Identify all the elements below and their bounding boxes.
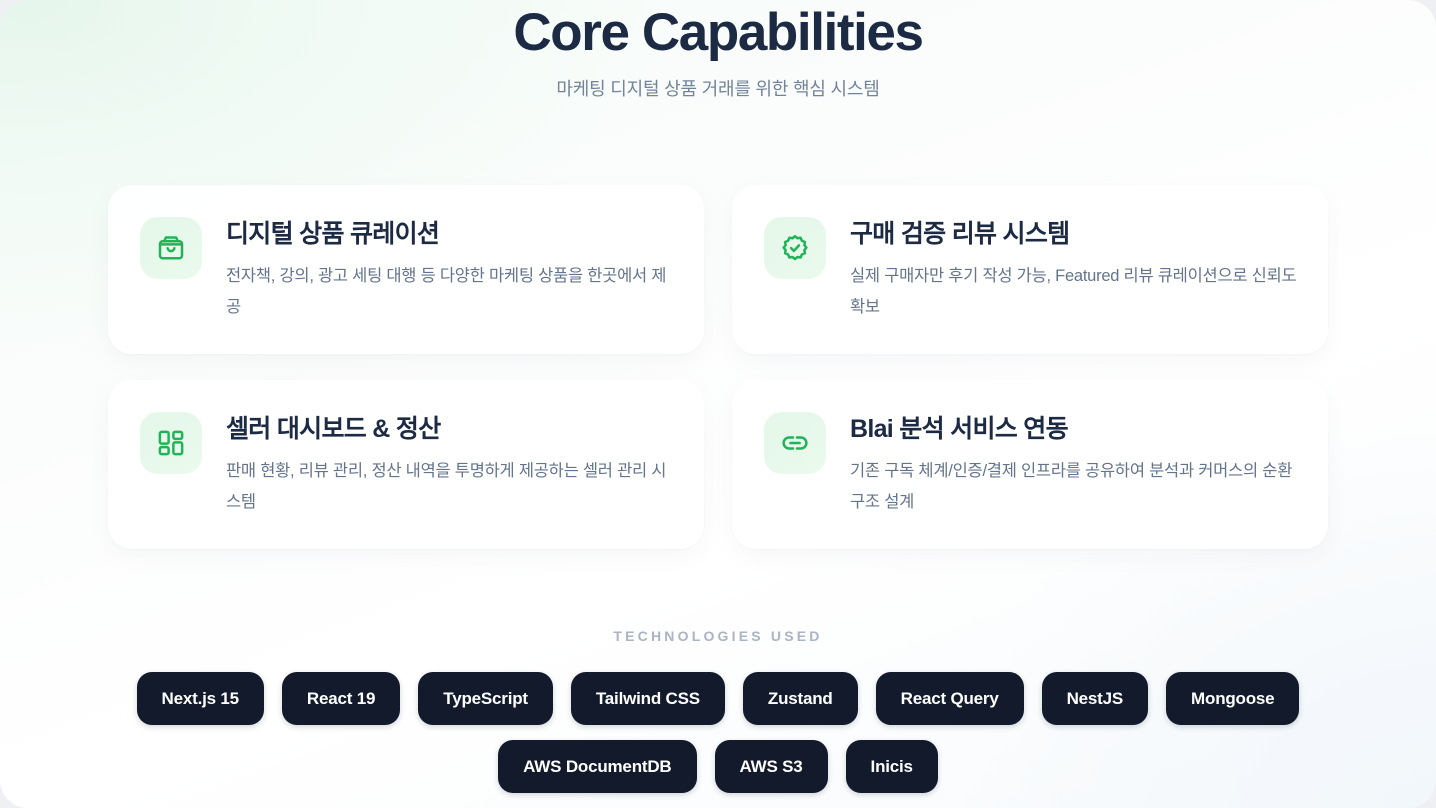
capability-card-digital-product-curation[interactable]: 디지털 상품 큐레이션 전자책, 강의, 광고 세팅 대행 등 다양한 마케팅 … bbox=[108, 185, 704, 354]
page-title: Core Capabilities bbox=[0, 2, 1436, 64]
card-body: 구매 검증 리뷰 시스템 실제 구매자만 후기 작성 가능, Featured … bbox=[850, 217, 1298, 323]
card-description: 실제 구매자만 후기 작성 가능, Featured 리뷰 큐레이션으로 신뢰도… bbox=[850, 261, 1298, 323]
capability-card-grid: 디지털 상품 큐레이션 전자책, 강의, 광고 세팅 대행 등 다양한 마케팅 … bbox=[108, 185, 1328, 549]
link-chain-icon bbox=[764, 412, 826, 474]
tech-badge[interactable]: NestJS bbox=[1042, 672, 1148, 725]
capabilities-page: Core Capabilities 마케팅 디지털 상품 거래를 위한 핵심 시… bbox=[0, 0, 1436, 808]
tech-badge[interactable]: Mongoose bbox=[1166, 672, 1299, 725]
card-body: Blai 분석 서비스 연동 기존 구독 체계/인증/결제 인프라를 공유하여 … bbox=[850, 412, 1298, 518]
tech-badge[interactable]: Zustand bbox=[743, 672, 858, 725]
capability-card-verified-review-system[interactable]: 구매 검증 리뷰 시스템 실제 구매자만 후기 작성 가능, Featured … bbox=[732, 185, 1328, 354]
dashboard-grid-icon bbox=[140, 412, 202, 474]
tech-badge[interactable]: React Query bbox=[876, 672, 1024, 725]
tech-badge[interactable]: TypeScript bbox=[418, 672, 553, 725]
verified-badge-check-icon bbox=[764, 217, 826, 279]
tech-badge[interactable]: React 19 bbox=[282, 672, 400, 725]
tech-badge[interactable]: Tailwind CSS bbox=[571, 672, 725, 725]
capability-card-blai-analytics-integration[interactable]: Blai 분석 서비스 연동 기존 구독 체계/인증/결제 인프라를 공유하여 … bbox=[732, 380, 1328, 549]
tech-badge[interactable]: AWS S3 bbox=[715, 740, 828, 793]
card-title: 셀러 대시보드 & 정산 bbox=[226, 413, 674, 445]
card-description: 판매 현황, 리뷰 관리, 정산 내역을 투명하게 제공하는 셀러 관리 시스템 bbox=[226, 456, 674, 518]
page-header: Core Capabilities 마케팅 디지털 상품 거래를 위한 핵심 시… bbox=[0, 0, 1436, 102]
page-subtitle: 마케팅 디지털 상품 거래를 위한 핵심 시스템 bbox=[0, 76, 1436, 102]
card-title: 디지털 상품 큐레이션 bbox=[226, 218, 674, 250]
tech-badge[interactable]: Next.js 15 bbox=[137, 672, 264, 725]
card-body: 셀러 대시보드 & 정산 판매 현황, 리뷰 관리, 정산 내역을 투명하게 제… bbox=[226, 412, 674, 518]
card-description: 기존 구독 체계/인증/결제 인프라를 공유하여 분석과 커머스의 순환 구조 … bbox=[850, 456, 1298, 518]
capability-card-seller-dashboard-settlement[interactable]: 셀러 대시보드 & 정산 판매 현황, 리뷰 관리, 정산 내역을 투명하게 제… bbox=[108, 380, 704, 549]
technology-badge-row-1: Next.js 15 React 19 TypeScript Tailwind … bbox=[0, 672, 1436, 725]
technologies-section: TECHNOLOGIES USED Next.js 15 React 19 Ty… bbox=[0, 628, 1436, 793]
technology-badge-row-2: AWS DocumentDB AWS S3 Inicis bbox=[0, 740, 1436, 793]
card-description: 전자책, 강의, 광고 세팅 대행 등 다양한 마케팅 상품을 한곳에서 제공 bbox=[226, 261, 674, 323]
technologies-used-label: TECHNOLOGIES USED bbox=[0, 628, 1436, 644]
tech-badge[interactable]: Inicis bbox=[846, 740, 938, 793]
card-title: Blai 분석 서비스 연동 bbox=[850, 413, 1298, 445]
card-body: 디지털 상품 큐레이션 전자책, 강의, 광고 세팅 대행 등 다양한 마케팅 … bbox=[226, 217, 674, 323]
shopping-bag-icon bbox=[140, 217, 202, 279]
tech-badge[interactable]: AWS DocumentDB bbox=[498, 740, 696, 793]
card-title: 구매 검증 리뷰 시스템 bbox=[850, 218, 1298, 250]
